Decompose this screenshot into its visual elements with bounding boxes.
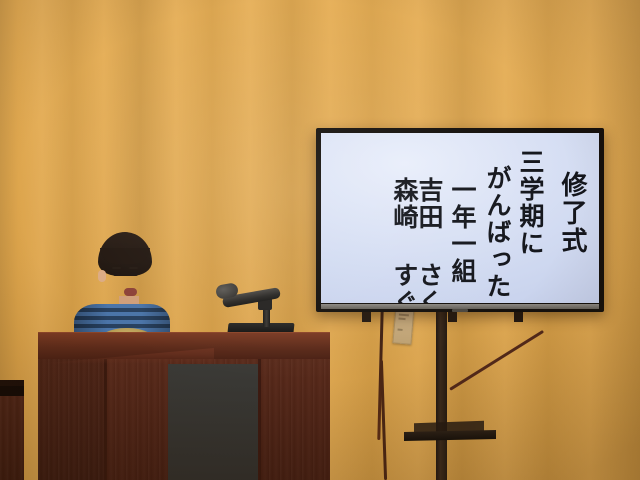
photo-scene: 修了式 三学期に がんばったこと 一年一組 吉田 さく 森崎 すぐる bbox=[0, 0, 640, 480]
photo-vignette bbox=[0, 0, 640, 480]
